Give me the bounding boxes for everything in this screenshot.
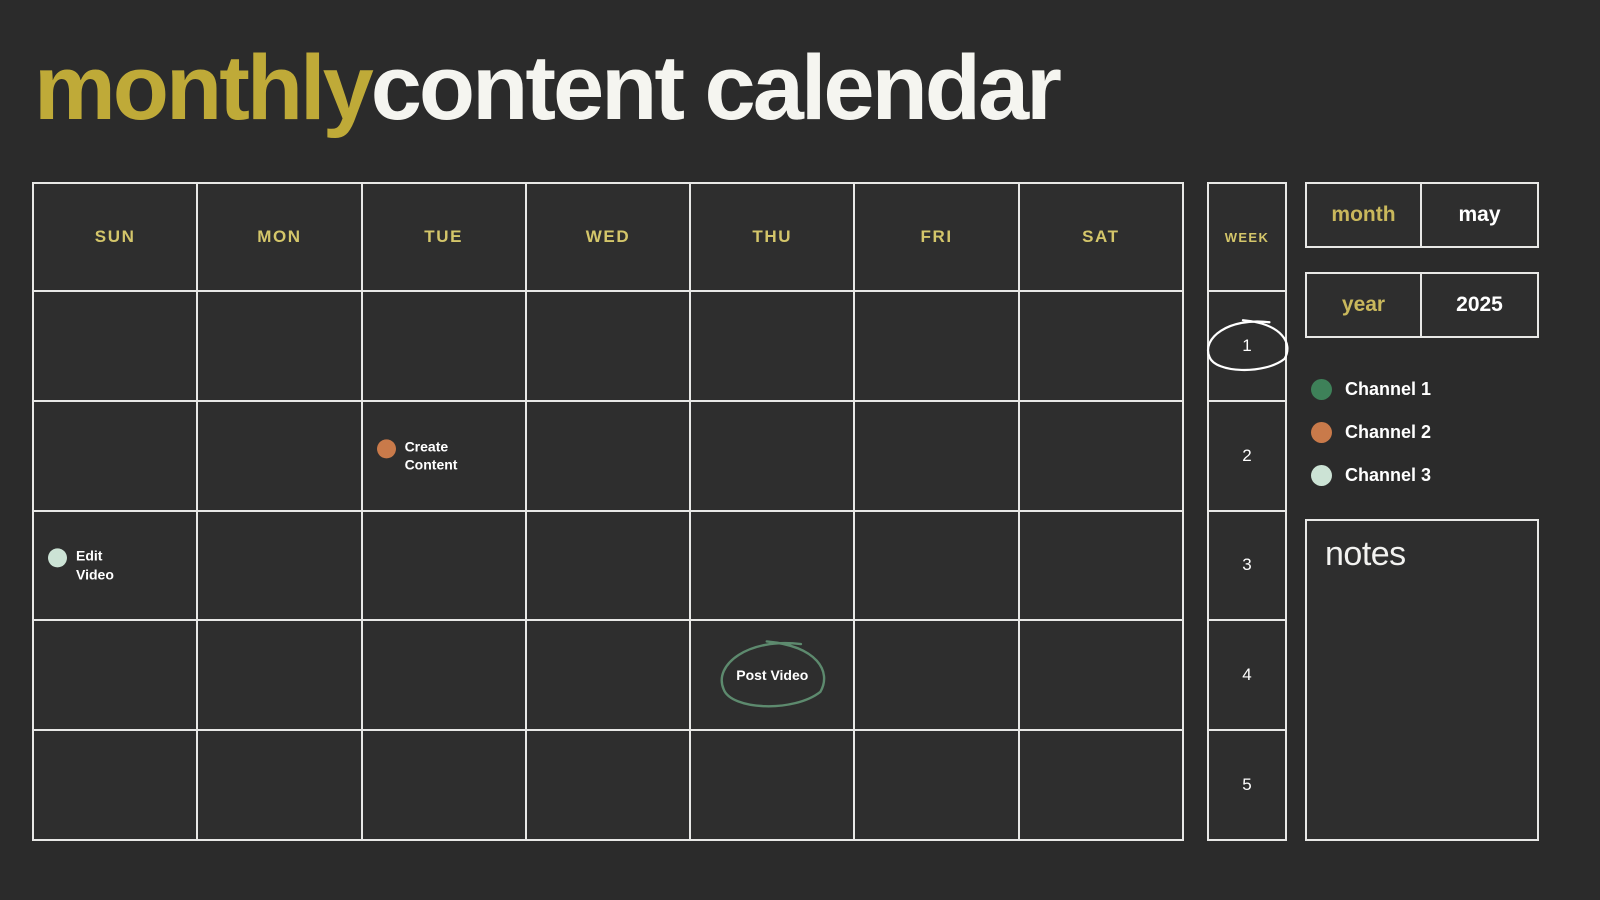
week-number-cell[interactable]: 5	[1209, 731, 1285, 841]
calendar-day-cell[interactable]	[691, 512, 855, 622]
calendar-day-cell[interactable]	[527, 512, 691, 622]
week-number-cell[interactable]: 3	[1209, 512, 1285, 622]
calendar-day-cell[interactable]: CreateContent	[363, 402, 527, 512]
day-header-label: THU	[752, 227, 792, 247]
month-label: month	[1307, 184, 1422, 246]
calendar-day-cell[interactable]	[34, 292, 198, 402]
legend-label: Channel 3	[1345, 465, 1431, 486]
calendar-day-cell[interactable]	[1020, 512, 1184, 622]
event-label: EditVideo	[76, 547, 114, 584]
calendar-day-cell[interactable]	[363, 512, 527, 622]
legend-label: Channel 2	[1345, 422, 1431, 443]
notes-box[interactable]: notes	[1305, 519, 1539, 841]
calendar-day-cell[interactable]	[527, 292, 691, 402]
calendar-day-cell[interactable]	[1020, 621, 1184, 731]
week-column-header: WEEK	[1209, 184, 1285, 292]
calendar-day-cell[interactable]	[855, 731, 1019, 841]
week-number: 3	[1242, 555, 1251, 575]
calendar-day-cell[interactable]	[691, 731, 855, 841]
legend-color-dot	[1311, 379, 1332, 400]
day-header-tue: TUE	[363, 184, 527, 292]
event-channel-dot	[377, 439, 396, 458]
calendar-day-cell[interactable]	[855, 402, 1019, 512]
legend-color-dot	[1311, 422, 1332, 443]
calendar-day-cell[interactable]	[527, 621, 691, 731]
month-value[interactable]: may	[1422, 184, 1537, 246]
calendar-day-cell[interactable]	[363, 292, 527, 402]
calendar-day-cell[interactable]	[34, 731, 198, 841]
legend-label: Channel 1	[1345, 379, 1431, 400]
week-number: 1	[1242, 336, 1251, 356]
day-header-sun: SUN	[34, 184, 198, 292]
legend-item[interactable]: Channel 2	[1311, 411, 1539, 454]
week-number-cell[interactable]: 1	[1209, 292, 1285, 402]
calendar-day-cell[interactable]	[198, 402, 362, 512]
calendar-day-cell[interactable]: EditVideo	[34, 512, 198, 622]
page-title-plain: content calendar	[371, 37, 1059, 139]
calendar-day-cell[interactable]	[1020, 731, 1184, 841]
calendar-day-cell[interactable]	[363, 621, 527, 731]
calendar-grid: SUNMONTUEWEDTHUFRISATCreateContentEditVi…	[32, 182, 1184, 841]
content-calendar-page: monthlycontent calendar SUNMONTUEWEDTHUF…	[0, 0, 1600, 900]
calendar-event[interactable]: EditVideo	[48, 547, 114, 584]
day-header-label: SUN	[95, 227, 136, 247]
week-number: 2	[1242, 446, 1251, 466]
channel-legend: Channel 1Channel 2Channel 3	[1305, 368, 1539, 497]
week-number: 4	[1242, 665, 1251, 685]
calendar-day-cell[interactable]	[527, 402, 691, 512]
calendar-day-cell[interactable]	[691, 292, 855, 402]
calendar-event[interactable]: CreateContent	[377, 437, 458, 474]
event-channel-dot	[48, 549, 67, 568]
calendar-day-cell[interactable]	[34, 402, 198, 512]
calendar-day-cell[interactable]: Post Video	[691, 621, 855, 731]
calendar-day-cell[interactable]	[363, 731, 527, 841]
sidebar-panel: month may year 2025 Channel 1Channel 2Ch…	[1305, 182, 1539, 841]
week-number-cell[interactable]: 2	[1209, 402, 1285, 512]
notes-title: notes	[1325, 537, 1519, 571]
legend-item[interactable]: Channel 1	[1311, 368, 1539, 411]
year-value[interactable]: 2025	[1422, 274, 1537, 336]
day-header-label: SAT	[1082, 227, 1120, 247]
event-label: Post Video	[736, 667, 808, 683]
day-header-thu: THU	[691, 184, 855, 292]
month-field[interactable]: month may	[1305, 182, 1539, 248]
day-header-fri: FRI	[855, 184, 1019, 292]
legend-color-dot	[1311, 465, 1332, 486]
week-column: WEEK12345	[1207, 182, 1287, 841]
year-field[interactable]: year 2025	[1305, 272, 1539, 338]
page-title-accent: monthly	[34, 37, 371, 139]
calendar-day-cell[interactable]	[527, 731, 691, 841]
day-header-wed: WED	[527, 184, 691, 292]
week-number-cell[interactable]: 4	[1209, 621, 1285, 731]
calendar-day-cell[interactable]	[198, 292, 362, 402]
week-number: 5	[1242, 775, 1251, 795]
calendar-day-cell[interactable]	[198, 621, 362, 731]
calendar-day-cell[interactable]	[198, 731, 362, 841]
calendar-day-cell[interactable]	[855, 621, 1019, 731]
calendar-day-cell[interactable]	[198, 512, 362, 622]
legend-item[interactable]: Channel 3	[1311, 454, 1539, 497]
year-label: year	[1307, 274, 1422, 336]
calendar-day-cell[interactable]	[855, 292, 1019, 402]
calendar-day-cell[interactable]	[691, 402, 855, 512]
day-header-sat: SAT	[1020, 184, 1184, 292]
calendar-day-cell[interactable]	[1020, 402, 1184, 512]
calendar-event[interactable]: Post Video	[717, 639, 827, 711]
day-header-label: TUE	[424, 227, 463, 247]
week-column-header-label: WEEK	[1225, 230, 1270, 245]
day-header-label: FRI	[920, 227, 952, 247]
calendar-day-cell[interactable]	[34, 621, 198, 731]
calendar-day-cell[interactable]	[855, 512, 1019, 622]
day-header-label: MON	[257, 227, 301, 247]
day-header-label: WED	[586, 227, 630, 247]
calendar-day-cell[interactable]	[1020, 292, 1184, 402]
page-title: monthlycontent calendar	[34, 40, 1059, 137]
day-header-mon: MON	[198, 184, 362, 292]
event-label: CreateContent	[405, 437, 458, 474]
